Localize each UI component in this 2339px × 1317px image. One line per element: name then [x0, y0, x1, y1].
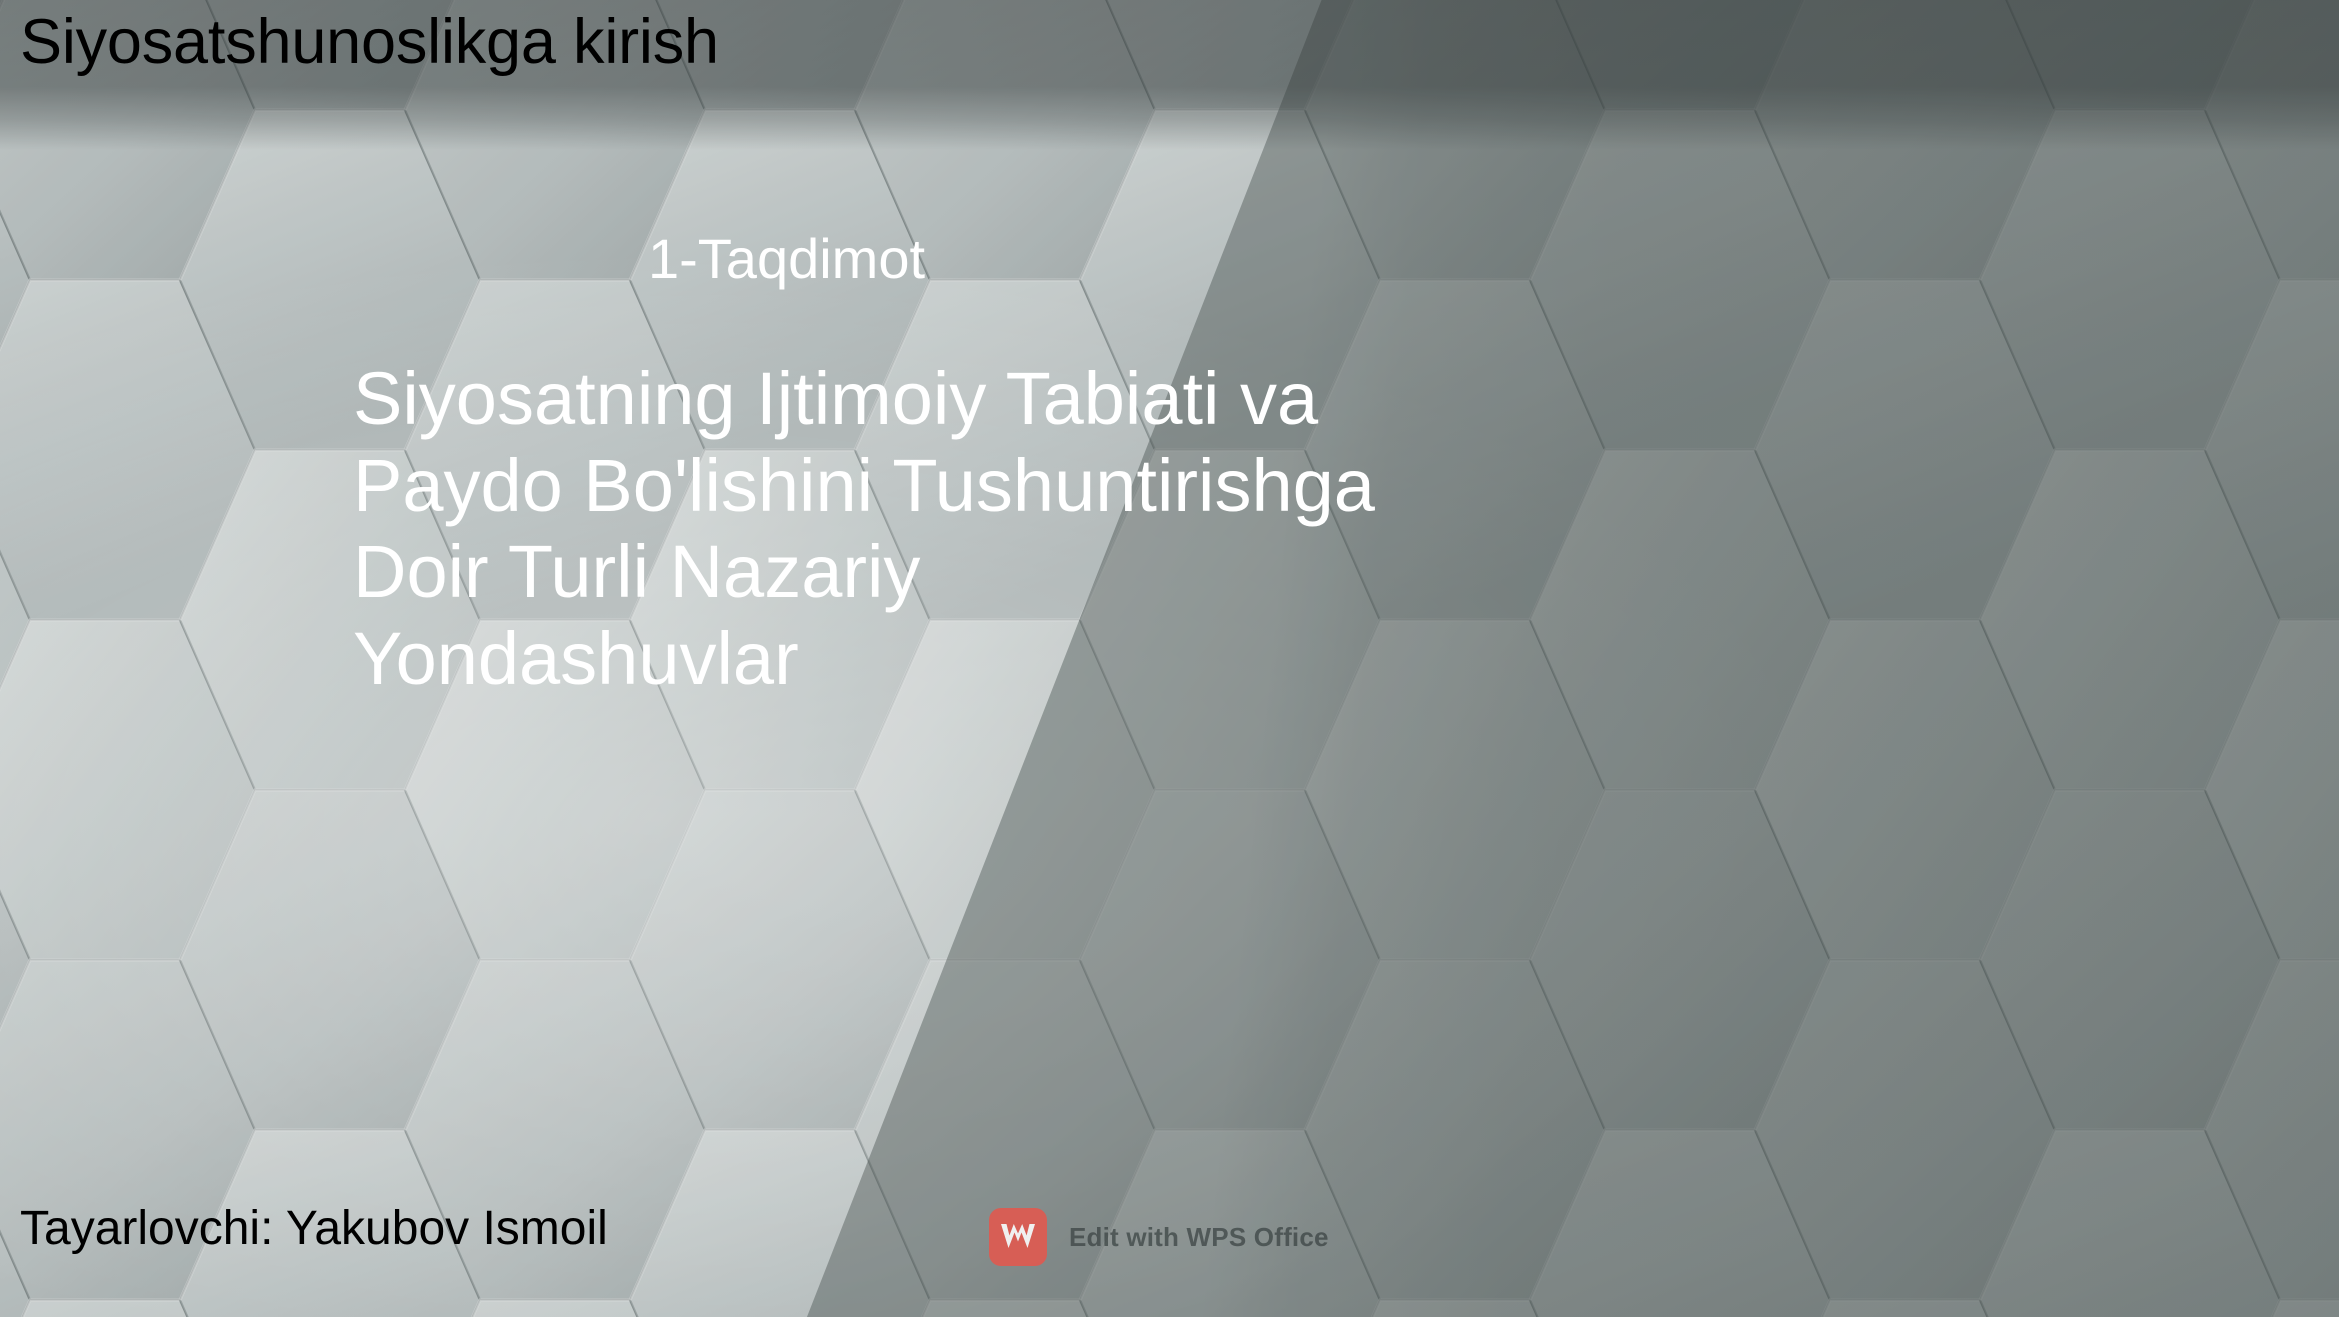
title-line-4: Yondashuvlar: [353, 616, 1453, 703]
wps-w-glyph-icon: [998, 1220, 1038, 1254]
wps-office-watermark[interactable]: Edit with WPS Office: [989, 1208, 1329, 1266]
title-line-3: Doir Turli Nazariy: [353, 529, 1453, 616]
slide-main-title: Siyosatning Ijtimoiy Tabiati va Paydo Bo…: [353, 356, 1453, 702]
slide-header-text: Siyosatshunoslikga kirish: [20, 8, 719, 76]
slide-subtitle-text: 1-Taqdimot: [648, 228, 925, 290]
presentation-slide: Siyosatshunoslikga kirish 1-Taqdimot Siy…: [0, 0, 2339, 1317]
wps-logo-icon: [989, 1208, 1047, 1266]
slide-footer-author: Tayarlovchi: Yakubov Ismoil: [20, 1203, 608, 1256]
wps-watermark-label: Edit with WPS Office: [1069, 1222, 1329, 1253]
title-line-1: Siyosatning Ijtimoiy Tabiati va: [353, 356, 1453, 443]
slide-content-layer: Siyosatshunoslikga kirish 1-Taqdimot Siy…: [0, 0, 2339, 1317]
title-line-2: Paydo Bo'lishini Tushuntirishga: [353, 443, 1453, 530]
